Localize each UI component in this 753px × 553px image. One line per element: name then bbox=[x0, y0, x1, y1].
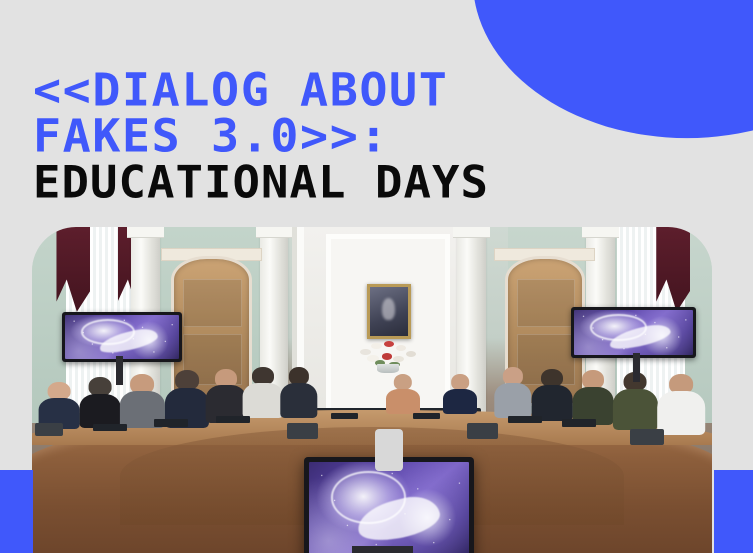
av-rack-left bbox=[287, 423, 318, 439]
door-panel bbox=[183, 279, 242, 327]
flower bbox=[382, 353, 393, 360]
person-body bbox=[658, 391, 706, 434]
person-body bbox=[280, 383, 317, 418]
person-body bbox=[386, 389, 420, 414]
blue-block-bottom-right bbox=[714, 470, 753, 553]
title-line-2: FAKES 3.0>>: bbox=[33, 113, 753, 161]
flower bbox=[396, 345, 406, 351]
presenter-right bbox=[443, 374, 477, 413]
microphone-unit bbox=[93, 424, 127, 431]
attendee bbox=[120, 374, 164, 426]
microphone-unit bbox=[413, 413, 440, 419]
attendee bbox=[494, 367, 531, 416]
microphone-unit bbox=[508, 416, 542, 423]
starfield bbox=[309, 462, 469, 553]
photo-scene bbox=[32, 227, 712, 553]
camera-tripod bbox=[375, 429, 402, 471]
framed-portrait bbox=[367, 284, 411, 339]
monitor-screen bbox=[65, 315, 179, 359]
attendee bbox=[80, 377, 121, 426]
microphone-unit bbox=[154, 419, 188, 426]
side-equipment-right bbox=[630, 429, 664, 445]
side-equipment-left bbox=[35, 423, 62, 436]
av-rack-right bbox=[467, 423, 498, 439]
column-capital-outer-right bbox=[582, 227, 619, 238]
attendee bbox=[39, 382, 80, 428]
attendee bbox=[280, 367, 317, 416]
person-body bbox=[80, 394, 121, 428]
person-body bbox=[243, 383, 284, 418]
microphone-unit bbox=[562, 419, 596, 426]
presenter-left bbox=[386, 374, 420, 413]
center-floor-monitor bbox=[304, 457, 474, 553]
flower bbox=[384, 341, 394, 347]
right-wall-monitor bbox=[571, 307, 696, 359]
poster-canvas: <<DIALOG ABOUT FAKES 3.0>>: EDUCATIONAL … bbox=[0, 0, 753, 553]
event-photo bbox=[32, 227, 712, 553]
person-body bbox=[613, 389, 657, 429]
column-capital-inner-right bbox=[453, 227, 490, 238]
flower bbox=[360, 349, 371, 356]
floral-arrangement bbox=[356, 339, 421, 372]
page-title: <<DIALOG ABOUT FAKES 3.0>>: EDUCATIONAL … bbox=[33, 68, 713, 206]
door-panel bbox=[517, 279, 576, 327]
monitor-screen bbox=[574, 310, 693, 356]
attendee bbox=[205, 369, 246, 421]
attendee bbox=[658, 374, 706, 433]
flower bbox=[406, 351, 416, 357]
person-body bbox=[494, 383, 531, 418]
left-monitor-stand bbox=[116, 356, 123, 385]
title-line-3: EDUCATIONAL DAYS bbox=[33, 159, 753, 207]
column-capital-inner-left bbox=[256, 227, 293, 238]
monitor-screen bbox=[309, 462, 469, 553]
microphone-unit bbox=[216, 416, 250, 423]
starfield bbox=[574, 310, 693, 356]
starfield bbox=[65, 315, 179, 359]
title-line-1: <<DIALOG ABOUT bbox=[33, 67, 753, 115]
flower-vase bbox=[377, 364, 399, 374]
right-monitor-stand bbox=[633, 353, 640, 382]
attendee bbox=[165, 370, 209, 425]
microphone-unit bbox=[331, 413, 358, 419]
left-wall-monitor bbox=[62, 312, 182, 362]
attendee bbox=[573, 370, 614, 422]
attendee bbox=[532, 369, 573, 420]
person-body bbox=[443, 389, 477, 414]
flower bbox=[371, 343, 381, 349]
blue-block-bottom-left bbox=[0, 470, 33, 553]
center-monitor-cart bbox=[352, 546, 413, 553]
column-capital-outer-left bbox=[127, 227, 164, 238]
attendee bbox=[243, 367, 284, 416]
